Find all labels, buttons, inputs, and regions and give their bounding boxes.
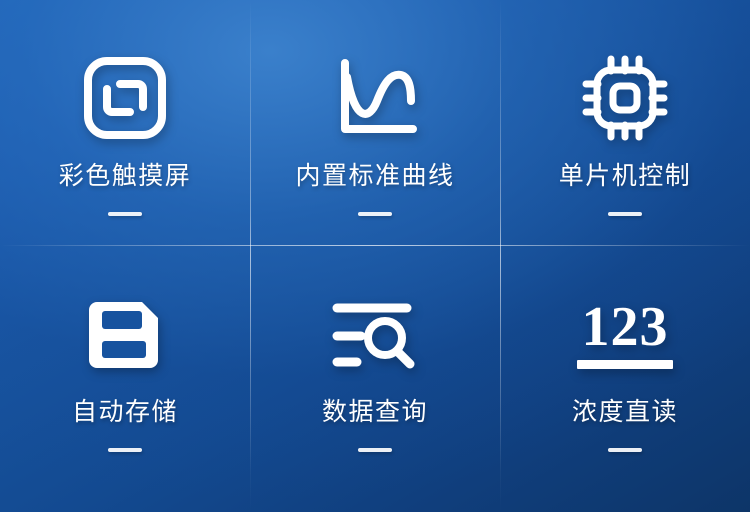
feature-grid: 彩色触摸屏 内置标准曲线	[0, 0, 750, 512]
touchscreen-icon	[82, 52, 168, 144]
feature-label: 数据查询	[322, 392, 428, 428]
curve-chart-icon	[331, 52, 419, 144]
list-search-icon	[331, 292, 419, 378]
feature-grid-banner: 彩色触摸屏 内置标准曲线	[0, 0, 750, 512]
feature-underline-dash	[108, 448, 142, 452]
feature-label: 彩色触摸屏	[59, 156, 192, 192]
feature-label: 单片机控制	[559, 156, 692, 192]
microchip-icon	[580, 52, 670, 144]
feature-label: 自动存储	[72, 392, 178, 428]
feature-label: 内置标准曲线	[295, 156, 454, 192]
feature-cell-direct-concentration-readout[interactable]: 123 浓度直读	[500, 256, 750, 512]
feature-underline-dash	[358, 448, 392, 452]
feature-cell-auto-storage[interactable]: 自动存储	[0, 256, 250, 512]
feature-underline-dash	[608, 448, 642, 452]
feature-cell-color-touchscreen[interactable]: 彩色触摸屏	[0, 0, 250, 256]
feature-label: 浓度直读	[572, 392, 678, 428]
feature-cell-mcu-control[interactable]: 单片机控制	[500, 0, 750, 256]
feature-underline-dash	[608, 212, 642, 216]
feature-cell-data-query[interactable]: 数据查询	[250, 256, 500, 512]
feature-underline-dash	[108, 212, 142, 216]
digits-123-icon: 123	[577, 292, 673, 378]
digits-underline-rule	[577, 360, 673, 369]
feature-underline-dash	[358, 212, 392, 216]
floppy-disk-icon	[88, 292, 162, 378]
digits-123-text: 123	[582, 301, 669, 354]
feature-cell-builtin-standard-curve[interactable]: 内置标准曲线	[250, 0, 500, 256]
